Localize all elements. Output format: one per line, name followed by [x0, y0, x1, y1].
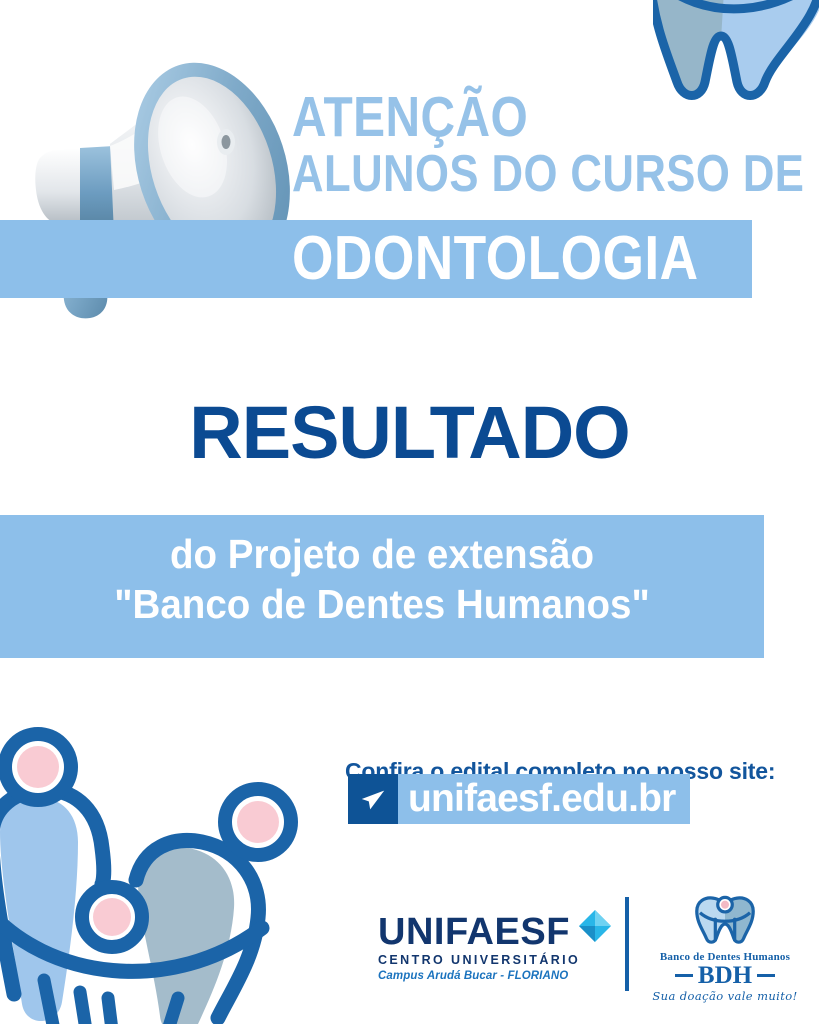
- logo-strip: UNIFAESF CENTRO UNIVERSITÁRIO Campus Aru…: [378, 905, 798, 995]
- headline-line-atencao: ATENÇÃO: [292, 90, 729, 145]
- bdh-abbrev: BDH: [698, 963, 752, 988]
- website-link[interactable]: unifaesf.edu.br: [348, 774, 690, 824]
- cursor-arrow-icon: [348, 774, 398, 824]
- unifaesf-wordmark: UNIFAESF: [378, 913, 608, 951]
- unifaesf-logo: UNIFAESF CENTRO UNIVERSITÁRIO Campus Aru…: [378, 913, 608, 982]
- page-title: RESULTADO: [0, 390, 819, 475]
- project-line-2: "Banco de Dentes Humanos": [23, 579, 741, 629]
- unifaesf-subtitle: CENTRO UNIVERSITÁRIO: [378, 953, 608, 967]
- bdh-logo: Banco de Dentes Humanos BDH Sua doação v…: [650, 895, 800, 1003]
- diamond-icon: [578, 909, 612, 943]
- tooth-graphic-bottom-left: [0, 712, 316, 1024]
- logo-divider: [625, 897, 629, 991]
- tooth-with-figures-icon: [650, 895, 800, 950]
- headline-block: ATENÇÃO ALUNOS DO CURSO DE: [292, 90, 812, 200]
- poster-canvas: ATENÇÃO ALUNOS DO CURSO DE ODONTOLOGIA R…: [0, 0, 819, 1024]
- unifaesf-campus: Campus Arudá Bucar - FLORIANO: [378, 970, 608, 982]
- bdh-tagline: Sua doação vale muito!: [650, 989, 800, 1003]
- headline-line-alunos: ALUNOS DO CURSO DE: [292, 149, 729, 199]
- project-text-block: do Projeto de extensão "Banco de Dentes …: [0, 529, 764, 629]
- headline-line-odontologia: ODONTOLOGIA: [292, 228, 699, 290]
- bdh-abbrev-row: BDH: [650, 963, 800, 988]
- bdh-rule-right: [757, 974, 775, 977]
- website-url-text: unifaesf.edu.br: [408, 777, 676, 821]
- url-band: unifaesf.edu.br: [398, 774, 690, 824]
- bdh-rule-left: [675, 974, 693, 977]
- project-line-1: do Projeto de extensão: [23, 529, 741, 579]
